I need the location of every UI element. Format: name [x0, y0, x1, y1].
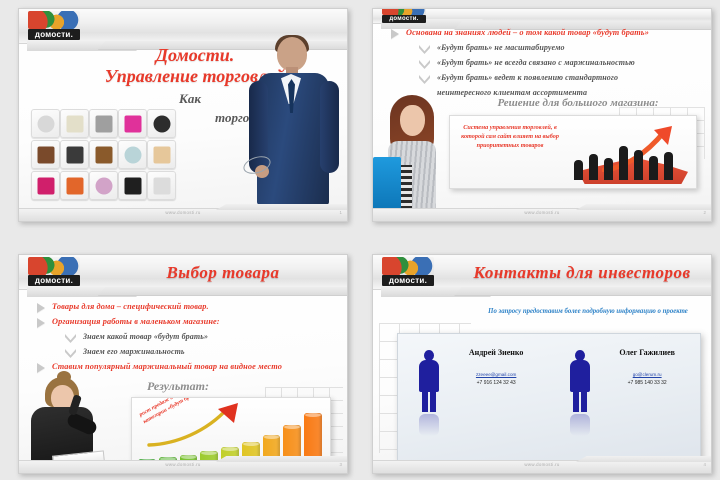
person-silhouette-icon [567, 350, 593, 412]
bullet-item: «Будут брать» ведет к появлению стандарт… [385, 72, 703, 84]
brand-logo: домости. [28, 257, 80, 290]
bullet-item: Товары для дома – специфический товар. [31, 301, 339, 313]
request-note: По запросу предоставим более подробную и… [483, 307, 693, 316]
pink-stand-thumb[interactable] [31, 171, 60, 200]
contact-email-link[interactable]: go@clerum.ru [600, 372, 694, 377]
wall-clock-icon [37, 115, 54, 132]
footer-url: www.domosti.ru [373, 462, 711, 467]
contact-card: Андрей Зиенкоzzeeee@gmail.com+7 916 124 … [397, 333, 701, 461]
chevron-down-icon [419, 75, 430, 84]
chevron-down-icon [65, 334, 76, 343]
page-number: 3 [340, 462, 342, 467]
slide-title[interactable]: домости. Домости. Управление торговлей К… [18, 8, 348, 222]
triangle-bullet-icon [37, 303, 45, 313]
bullet-list: Товары для дома – специфический товар.Ор… [31, 301, 339, 376]
wooden-barrel-thumb[interactable] [89, 140, 118, 169]
table-lamp-thumb[interactable] [60, 109, 89, 138]
cutting-board-thumb[interactable] [147, 140, 176, 169]
bullet-text: Основана на знаниях людей – о том какой … [406, 27, 649, 38]
chevron-down-icon [419, 45, 430, 54]
employee-photo [23, 377, 107, 473]
orange-jar-icon [66, 177, 83, 194]
table-lamp-icon [66, 115, 83, 132]
page-number: 2 [704, 210, 706, 215]
contact-name: Олег Гажилиев [600, 348, 694, 357]
person-silhouette-icon [634, 150, 643, 180]
bullet-item: Знаем какой товар «будут брать» [31, 331, 339, 343]
logo-wordmark: домости. [382, 15, 426, 23]
slide-cell-4: домости. Контакты для инвесторов По запр… [360, 240, 720, 480]
person-silhouette-icon [589, 154, 598, 180]
coffee-table-icon [37, 146, 54, 163]
bullet-text: «Будут брать» не масштабируемо [437, 42, 565, 53]
lampshade-pink-thumb[interactable] [118, 109, 147, 138]
person-silhouette-icon [416, 350, 442, 412]
lampshade-pink-icon [124, 115, 141, 132]
shopper-photo [375, 95, 449, 215]
contact-phone: +7 916 124 32 43 [449, 380, 543, 386]
slide-footer: www.domosti.ru 4 [373, 460, 711, 473]
glass-table-icon [124, 146, 141, 163]
black-stool-thumb[interactable] [118, 171, 147, 200]
bullet-text: «Будут брать» ведет к появлению стандарт… [437, 72, 618, 83]
bullet-text: Организация работы в маленьком магазине: [52, 316, 220, 327]
logo-image-strip [382, 257, 434, 275]
person-silhouette-icon [664, 152, 673, 180]
page-number: 4 [704, 462, 706, 467]
slide-footer: www.domosti.ru 3 [19, 460, 347, 473]
bullet-text: «Будут брать» не всегда связано с маржин… [437, 57, 635, 68]
page-number: 1 [340, 210, 342, 215]
logo-wordmark: домости. [28, 275, 80, 286]
coffee-table-thumb[interactable] [31, 140, 60, 169]
page-title: Контакты для инвесторов [463, 260, 701, 286]
slide-big-store[interactable]: домости. Основана на знаниях людей – о т… [372, 8, 712, 222]
subtitle-line-1: Как [179, 91, 201, 107]
footer-url: www.domosti.ru [19, 210, 347, 215]
contact-name: Андрей Зиенко [449, 348, 543, 357]
slide-cell-2: домости. Основана на знаниях людей – о т… [360, 0, 720, 240]
vase-grey-thumb[interactable] [89, 109, 118, 138]
slide-deck-overview: домости. Домости. Управление торговлей К… [0, 0, 720, 480]
striped-boxes-thumb[interactable] [89, 171, 118, 200]
desk-lamp-thumb[interactable] [60, 140, 89, 169]
solution-illustration-panel: Система управления торговлей, в которой … [449, 115, 697, 189]
black-stool-icon [124, 177, 141, 194]
logo-image-strip [28, 11, 80, 29]
people-silhouettes [572, 140, 686, 180]
businessman-photo [245, 37, 341, 205]
footer-url: www.domosti.ru [373, 210, 711, 215]
orange-jar-thumb[interactable] [60, 171, 89, 200]
wall-clock-thumb[interactable] [31, 109, 60, 138]
wooden-barrel-icon [95, 146, 112, 163]
bullet-text: Ставим популярный маржинальный товар на … [52, 361, 282, 372]
contact-email-link[interactable]: zzeeee@gmail.com [449, 372, 543, 377]
contact-phone: +7 985 140 33 32 [600, 380, 694, 386]
cutting-board-icon [153, 146, 170, 163]
slide-product-choice[interactable]: домости. Выбор товара Товары для дома – … [18, 254, 348, 474]
bullet-text: Знаем его маржинальность [83, 346, 185, 357]
bullet-item: Знаем его маржинальность [31, 346, 339, 358]
bullet-item: «Будут брать» не всегда связано с маржин… [385, 57, 703, 69]
bullet-item: Ставим популярный маржинальный товар на … [31, 361, 339, 373]
person-silhouette-icon [604, 158, 613, 180]
striped-boxes-icon [95, 177, 112, 194]
bullet-list: Основана на знаниях людей – о том какой … [385, 27, 703, 101]
bullet-text: Товары для дома – специфический товар. [52, 301, 209, 312]
brand-logo: домости. [382, 8, 426, 38]
panel-caption: Система управления торговлей, в которой … [456, 123, 564, 150]
alarm-clock-icon [153, 177, 170, 194]
person-silhouette-icon [649, 156, 658, 180]
logo-wordmark: домости. [382, 275, 434, 286]
slide-cell-3: домости. Выбор товара Товары для дома – … [0, 240, 360, 480]
slide-footer: www.domosti.ru 2 [373, 208, 711, 221]
alarm-clock-thumb[interactable] [147, 171, 176, 200]
product-thumbnail-grid[interactable] [31, 109, 173, 200]
footer-url: www.domosti.ru [19, 462, 347, 467]
brand-logo: домости. [28, 11, 80, 44]
pink-stand-icon [37, 177, 54, 194]
glass-table-thumb[interactable] [118, 140, 147, 169]
logo-image-strip [28, 257, 80, 275]
bullet-item: «Будут брать» не масштабируемо [385, 42, 703, 54]
person-silhouette-icon [574, 160, 583, 180]
brand-logo: домости. [382, 257, 434, 290]
candelabra-icon [153, 115, 170, 132]
result-heading: Результат: [147, 379, 209, 394]
triangle-bullet-icon [37, 363, 45, 373]
slide-contacts[interactable]: домости. Контакты для инвесторов По запр… [372, 254, 712, 474]
desk-lamp-icon [66, 146, 83, 163]
slide-footer: www.domosti.ru 1 [19, 208, 347, 221]
vase-grey-icon [95, 115, 112, 132]
candelabra-thumb[interactable] [147, 109, 176, 138]
triangle-bullet-icon [37, 318, 45, 328]
bullet-text: Знаем какой товар «будут брать» [83, 331, 208, 342]
page-title: Выбор товара [109, 260, 337, 286]
bullet-item: Основана на знаниях людей – о том какой … [385, 27, 703, 39]
bullet-item: Организация работы в маленьком магазине: [31, 316, 339, 328]
chevron-down-icon [419, 60, 430, 69]
logo-wordmark: домости. [28, 29, 80, 40]
slide-cell-1: домости. Домости. Управление торговлей К… [0, 0, 360, 240]
chevron-down-icon [65, 349, 76, 358]
person-silhouette-icon [619, 146, 628, 180]
